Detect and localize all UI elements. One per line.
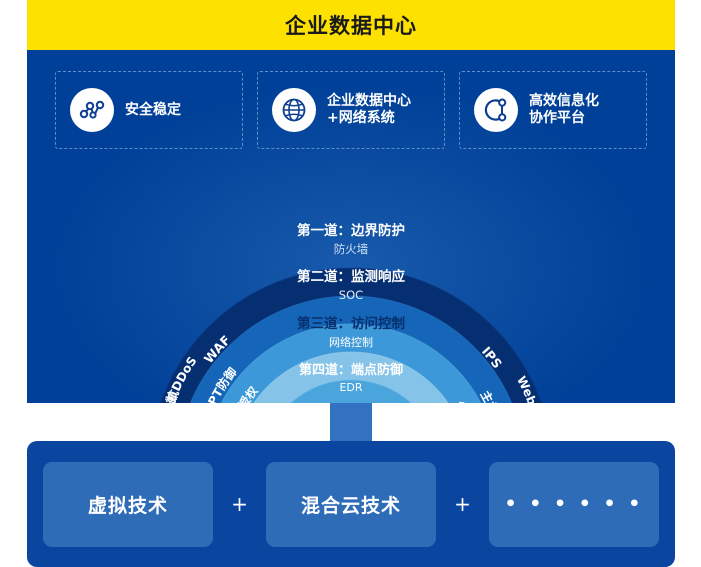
collaboration-nodes-icon — [474, 88, 518, 132]
tech-label-hybrid-cloud: 混合云技术 — [301, 491, 401, 518]
feature-card-security-stability[interactable]: 安全稳定 — [55, 71, 243, 149]
ring-2-title: 第二道：监测响应 — [297, 268, 405, 285]
technology-row: 虚拟技术 + 混合云技术 + • • • • • • — [43, 462, 659, 547]
ring-4-title: 第四道：端点防御 — [299, 362, 403, 378]
globe-icon — [272, 88, 316, 132]
tech-label-virtualization: 虚拟技术 — [88, 491, 168, 518]
plus-separator-1: + — [213, 492, 266, 516]
ring-3-subtitle: 网络控制 — [329, 335, 373, 349]
tech-label-more: • • • • • • — [505, 493, 644, 515]
ring-1-title: 第一道：边界防护 — [297, 222, 405, 239]
ring-2-subtitle: SOC — [339, 288, 363, 302]
feature-label-data-center-network: 企业数据中心 +网络系统 — [327, 93, 411, 127]
ring-1-subtitle: 防火墙 — [334, 242, 369, 256]
network-nodes-icon — [70, 88, 114, 132]
enterprise-data-center-panel: 企业数据中心 — [27, 0, 675, 403]
feature-label-collaboration-platform: 高效信息化 协作平台 — [529, 93, 599, 127]
page-title: 企业数据中心 — [285, 10, 417, 40]
tech-box-hybrid-cloud[interactable]: 混合云技术 — [266, 462, 436, 547]
tech-box-more[interactable]: • • • • • • — [489, 462, 659, 547]
feature-card-collaboration-platform[interactable]: 高效信息化 协作平台 — [459, 71, 647, 149]
ring-3-title: 第三道：访问控制 — [297, 315, 405, 332]
connector-block — [330, 403, 372, 445]
technology-panel: 虚拟技术 + 混合云技术 + • • • • • • — [27, 441, 675, 567]
ring-4-subtitle: EDR — [339, 381, 362, 394]
tech-box-virtualization[interactable]: 虚拟技术 — [43, 462, 213, 547]
feature-card-row: 安全稳定 企业数据中心 +网络系统 — [55, 71, 647, 149]
banner: 企业数据中心 — [27, 0, 675, 50]
feature-card-data-center-network[interactable]: 企业数据中心 +网络系统 — [257, 71, 445, 149]
feature-label-security-stability: 安全稳定 — [125, 102, 181, 119]
plus-separator-2: + — [436, 492, 489, 516]
